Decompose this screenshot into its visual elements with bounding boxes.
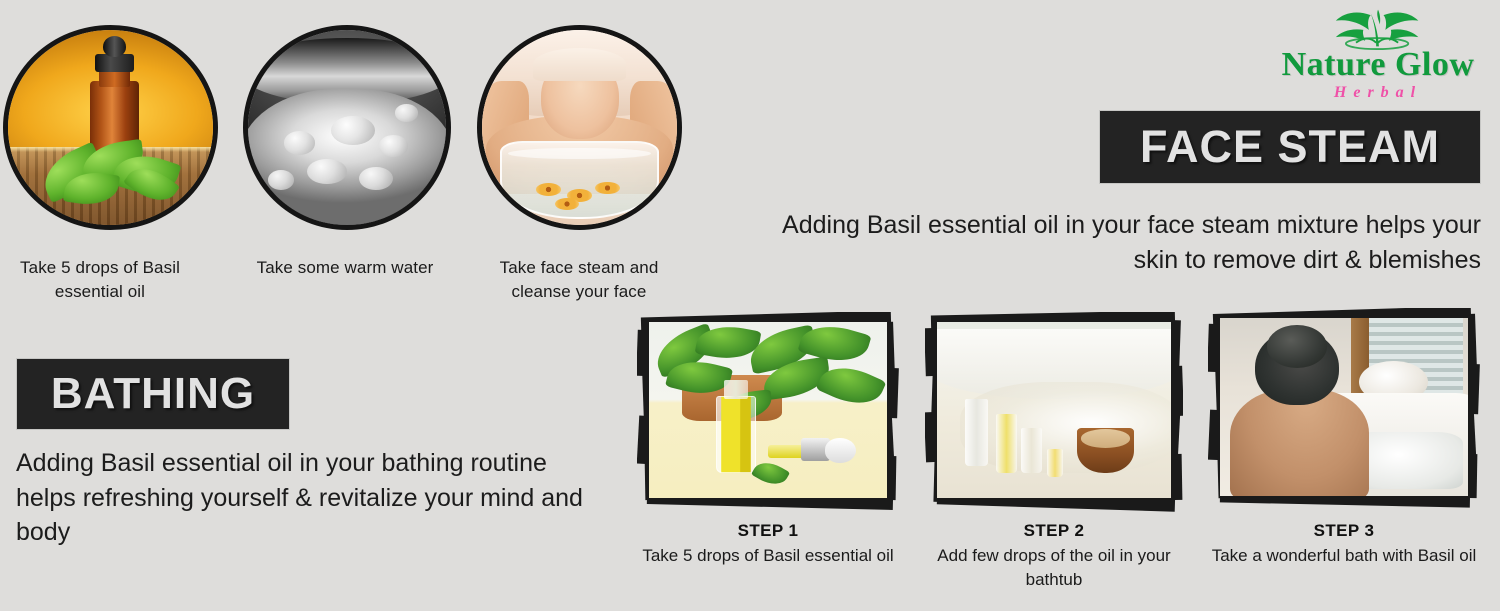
bathing-step-1-image <box>637 312 899 512</box>
bathing-title-bar: BATHING <box>16 358 290 430</box>
bathing-title: BATHING <box>51 369 255 419</box>
bathing-step-1-label: STEP 1 <box>637 521 899 541</box>
face-steam-description: Adding Basil essential oil in your face … <box>781 208 1481 277</box>
face-steam-step-2-image <box>243 25 451 230</box>
face-steam-title: FACE STEAM <box>1140 121 1440 173</box>
face-steam-step-1-image <box>3 25 218 230</box>
bathing-description: Adding Basil essential oil in your bathi… <box>16 446 606 550</box>
face-steam-step-2-caption: Take some warm water <box>247 256 443 280</box>
bathing-step-3-image <box>1208 308 1480 510</box>
bathing-step-2-caption: Add few drops of the oil in your bathtub <box>925 544 1183 592</box>
face-steam-title-bar: FACE STEAM <box>1099 110 1481 184</box>
brand-logo: Nature Glow Herbal <box>1270 6 1486 102</box>
leaf-icon <box>1270 6 1486 48</box>
face-steam-step-3-image <box>477 25 682 230</box>
bathing-step-2-label: STEP 2 <box>925 521 1183 541</box>
bathing-step-2-image <box>925 312 1183 512</box>
brand-name: Nature Glow <box>1270 48 1486 82</box>
bathing-step-3-caption: Take a wonderful bath with Basil oil <box>1208 544 1480 568</box>
face-steam-step-3-caption: Take face steam and cleanse your face <box>480 256 678 304</box>
infographic-canvas: Nature Glow Herbal Take 5 drops of Basil… <box>0 0 1500 611</box>
face-steam-step-1-caption: Take 5 drops of Basil essential oil <box>0 256 200 304</box>
bathing-step-1-caption: Take 5 drops of Basil essential oil <box>637 544 899 568</box>
brand-tagline: Herbal <box>1270 84 1486 102</box>
bathing-step-3-label: STEP 3 <box>1208 521 1480 541</box>
